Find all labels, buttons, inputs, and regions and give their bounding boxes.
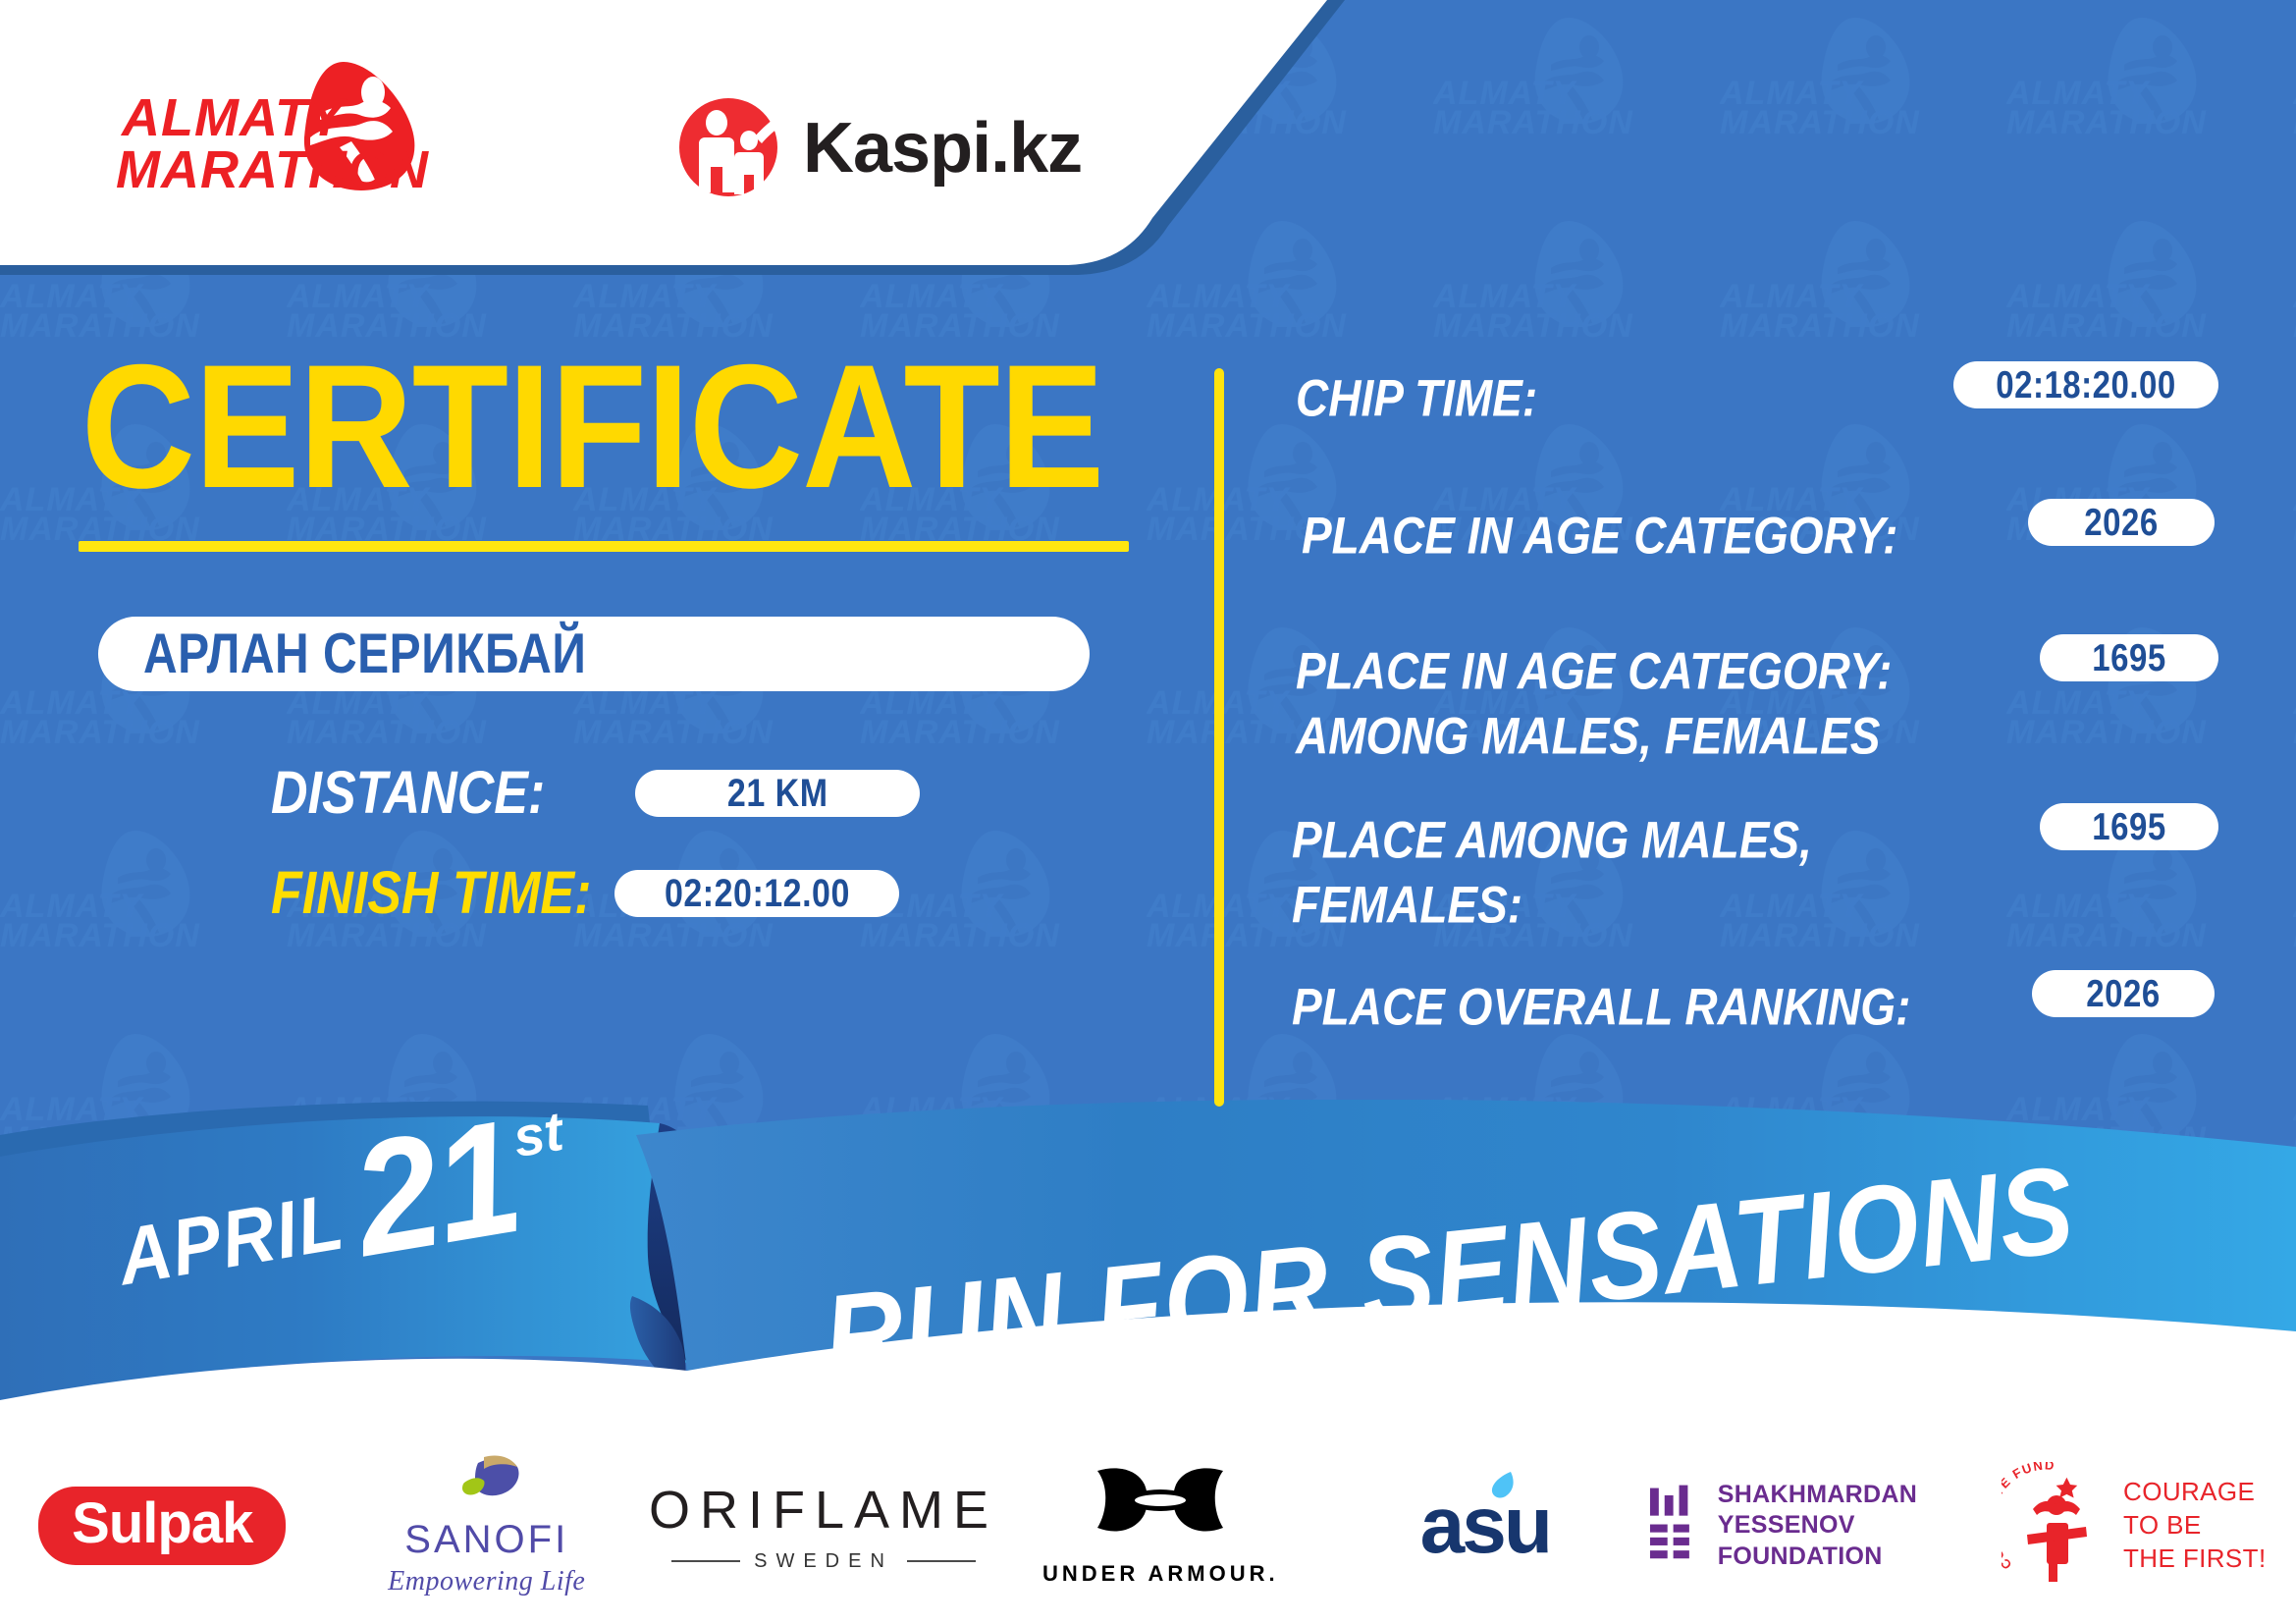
sponsor-logo-under-armour: UNDER ARMOUR. <box>998 1447 1323 1604</box>
oriflame-label: ORIFLAME <box>649 1480 998 1541</box>
stat-value-pill: 1695 <box>2040 803 2218 850</box>
stat-value-pill: 2026 <box>2028 499 2215 546</box>
courage-runner-icon: CORPORATE FUND <box>2002 1462 2109 1590</box>
sponsor-logo-oriflame: ORIFLAME SWEDEN <box>649 1447 998 1604</box>
distance-value: 21 KM <box>727 771 828 816</box>
kaspi-logo: Kaspi.kz <box>677 93 1090 201</box>
kaspi-family-icon <box>679 98 782 196</box>
stat-label: CHIP TIME: <box>1296 365 1537 430</box>
finish-time-value-pill: 02:20:12.00 <box>614 870 899 917</box>
sponsor-bar: Sulpak SANOFI Empowering Life ORIFLAME S… <box>0 1428 2296 1624</box>
stat-label-line2: FEMALES: <box>1292 872 1812 937</box>
asu-droplet-icon <box>1485 1470 1519 1509</box>
participant-name-field: АРЛАН СЕРИКБАЙ <box>98 617 1090 691</box>
stat-label: PLACE IN AGE CATEGORY: <box>1302 503 1897 568</box>
oriflame-rule-right <box>907 1560 976 1562</box>
sanofi-label: SANOFI <box>404 1518 568 1562</box>
stat-row: PLACE IN AGE CATEGORY: AMONG MALES, FEMA… <box>1266 638 2248 752</box>
sulpak-label: Sulpak <box>38 1487 286 1566</box>
stat-value: 2026 <box>2084 501 2158 545</box>
certificate-canvas: ALMATY MARATHON ALMATY MA <box>0 0 2296 1624</box>
certificate-left-column: CERTIFICATE АРЛАН СЕРИКБАЙ DISTANCE: 21 … <box>0 339 1188 1026</box>
stat-label: PLACE OVERALL RANKING: <box>1292 974 1910 1039</box>
vertical-divider <box>1214 368 1224 1107</box>
under-armour-mark-icon <box>1088 1465 1233 1555</box>
distance-value-pill: 21 KM <box>635 770 920 817</box>
stat-value: 1695 <box>2092 805 2165 849</box>
sanofi-tagline: Empowering Life <box>388 1566 585 1597</box>
kaspi-logo-label: Kaspi.kz <box>803 109 1082 188</box>
sponsor-logo-sanofi: SANOFI Empowering Life <box>325 1447 650 1604</box>
yessenov-mark-icon <box>1647 1471 1698 1581</box>
event-day: 21 <box>346 1108 528 1270</box>
finish-time-value: 02:20:12.00 <box>665 871 850 916</box>
stat-row: PLACE AMONG MALES, FEMALES: 1695 <box>1266 807 2248 921</box>
page-title: CERTIFICATE <box>0 339 1259 514</box>
stat-label-line1: PLACE IN AGE CATEGORY: <box>1296 638 1892 703</box>
stat-row: PLACE IN AGE CATEGORY: 2026 <box>1266 503 2248 560</box>
stat-label-line2: AMONG MALES, FEMALES <box>1296 703 1892 768</box>
courage-label-line1: COURAGE <box>2123 1476 2267 1509</box>
sponsor-logo-courage-to-be-the-first: CORPORATE FUND COURAGE TO BE THE FIRST! <box>1972 1447 2296 1604</box>
oriflame-tagline: SWEDEN <box>754 1550 893 1573</box>
stat-value-pill: 2026 <box>2032 970 2215 1017</box>
oriflame-rule-left <box>671 1560 740 1562</box>
participant-name-value: АРЛАН СЕРИКБАЙ <box>98 622 586 686</box>
under-armour-label: UNDER ARMOUR. <box>1042 1561 1279 1587</box>
almaty-marathon-logo: ALMATY MARATHON <box>116 59 440 196</box>
finish-time-label: FINISH TIME: <box>271 859 591 929</box>
sponsor-logo-asu: asu <box>1323 1447 1648 1604</box>
stat-label: PLACE AMONG MALES, FEMALES: <box>1292 807 1812 937</box>
stat-value-pill: 02:18:20.00 <box>1953 361 2218 408</box>
almaty-logo-line1: ALMATY <box>120 88 348 147</box>
title-divider <box>79 541 1129 552</box>
almaty-logo-line2: MARATHON <box>116 140 429 196</box>
stat-value: 2026 <box>2086 972 2160 1016</box>
finish-time-row: FINISH TIME: 02:20:12.00 <box>271 864 1188 923</box>
stat-label-line1: PLACE AMONG MALES, <box>1292 807 1812 872</box>
distance-label: DISTANCE: <box>271 759 545 829</box>
courage-label-line2: TO BE <box>2123 1509 2267 1543</box>
yessenov-label-line2: FOUNDATION <box>1718 1542 1972 1572</box>
stat-label: PLACE IN AGE CATEGORY: AMONG MALES, FEMA… <box>1296 638 1892 768</box>
yessenov-label-line1: SHAKHMARDAN YESSENOV <box>1718 1480 1972 1542</box>
stat-row: CHIP TIME: 02:18:20.00 <box>1266 365 2248 422</box>
sponsor-logo-yessenov-foundation: SHAKHMARDAN YESSENOV FOUNDATION <box>1647 1447 1972 1604</box>
sanofi-mark-icon <box>449 1455 525 1516</box>
sponsor-logo-sulpak: Sulpak <box>0 1447 325 1604</box>
stat-value-pill: 1695 <box>2040 634 2218 681</box>
distance-row: DISTANCE: 21 KM <box>271 764 1188 823</box>
stat-value: 02:18:20.00 <box>1996 363 2175 407</box>
courage-label-line3: THE FIRST! <box>2123 1543 2267 1576</box>
stat-value: 1695 <box>2092 636 2165 680</box>
stat-row: PLACE OVERALL RANKING: 2026 <box>1266 974 2248 1031</box>
